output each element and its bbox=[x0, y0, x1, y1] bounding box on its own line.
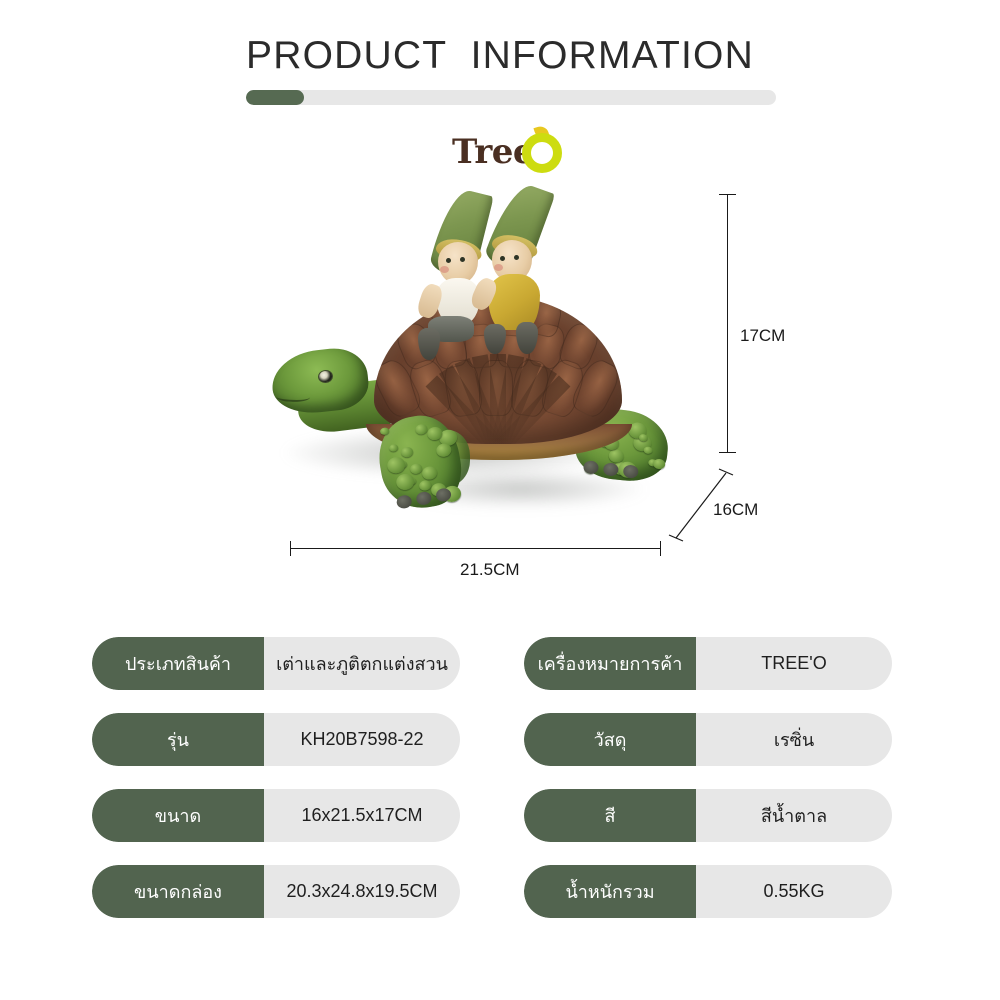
product-photo bbox=[270, 178, 690, 543]
brand-logo: Tree bbox=[452, 128, 572, 180]
leg-pebble bbox=[421, 465, 438, 480]
progress-bar-fill bbox=[246, 90, 304, 105]
spec-row-value: 16x21.5x17CM bbox=[264, 789, 460, 842]
leg-pebble bbox=[409, 463, 423, 475]
spec-row-value: 20.3x24.8x19.5CM bbox=[264, 865, 460, 918]
spec-row: สีสีน้ำตาล bbox=[524, 789, 892, 842]
spec-row-key: น้ำหนักรวม bbox=[524, 865, 696, 918]
spec-row-key: ขนาดกล่อง bbox=[92, 865, 264, 918]
gnome-eye bbox=[446, 258, 451, 263]
leg-pebble bbox=[389, 444, 399, 452]
gnome-eye bbox=[500, 256, 505, 261]
spec-row: ขนาดกล่อง20.3x24.8x19.5CM bbox=[92, 865, 460, 918]
spec-row: ประเภทสินค้าเต่าและภูติตกแต่งสวน bbox=[92, 637, 460, 690]
spec-row-value: TREE'O bbox=[696, 637, 892, 690]
height-dimension-label: 17CM bbox=[740, 326, 785, 346]
leg-pebble bbox=[415, 423, 429, 435]
leg-pebble bbox=[395, 472, 416, 491]
spec-row-value: 0.55KG bbox=[696, 865, 892, 918]
leg-pebble bbox=[400, 446, 414, 458]
width-dimension-label: 21.5CM bbox=[460, 560, 520, 580]
spec-row-key: ขนาด bbox=[92, 789, 264, 842]
spec-row-value: เรซิ่น bbox=[696, 713, 892, 766]
spec-row-key: รุ่น bbox=[92, 713, 264, 766]
spec-row-value: KH20B7598-22 bbox=[264, 713, 460, 766]
spec-column-right: เครื่องหมายการค้าTREE'Oวัสดุเรซิ่นสีสีน้… bbox=[524, 637, 892, 941]
spec-row: น้ำหนักรวม0.55KG bbox=[524, 865, 892, 918]
depth-dimension-label: 16CM bbox=[713, 500, 758, 520]
spec-row-key: สี bbox=[524, 789, 696, 842]
spec-row: วัสดุเรซิ่น bbox=[524, 713, 892, 766]
width-dimension-line bbox=[290, 548, 660, 549]
leg-pebble bbox=[380, 427, 390, 435]
height-dimension-line bbox=[727, 194, 728, 452]
spec-row: เครื่องหมายการค้าTREE'O bbox=[524, 637, 892, 690]
spec-row-key: วัสดุ bbox=[524, 713, 696, 766]
spec-row-value: เต่าและภูติตกแต่งสวน bbox=[264, 637, 460, 690]
gnome-eye bbox=[460, 257, 465, 262]
leg-pebble bbox=[418, 479, 432, 491]
page-title: PRODUCT INFORMATION bbox=[0, 34, 1000, 78]
leg-toe bbox=[415, 491, 432, 506]
width-dimension-cap-left bbox=[290, 541, 291, 556]
spec-row: ขนาด16x21.5x17CM bbox=[92, 789, 460, 842]
gnome-cheek bbox=[440, 266, 449, 273]
gnome-cheek bbox=[494, 264, 503, 271]
spec-row-key: ประเภทสินค้า bbox=[92, 637, 264, 690]
spec-column-left: ประเภทสินค้าเต่าและภูติตกแต่งสวนรุ่นKH20… bbox=[92, 637, 460, 941]
gnome-eye bbox=[514, 255, 519, 260]
leg-pebble bbox=[643, 446, 653, 454]
spec-row-key: เครื่องหมายการค้า bbox=[524, 637, 696, 690]
leg-toe bbox=[603, 462, 619, 476]
progress-bar-track bbox=[246, 90, 776, 105]
spec-row: รุ่นKH20B7598-22 bbox=[92, 713, 460, 766]
height-dimension-cap-bottom bbox=[719, 452, 736, 453]
product-information-page: PRODUCT INFORMATION Tree bbox=[0, 0, 1000, 1000]
leg-pebble bbox=[386, 456, 407, 475]
logo-ring-o-icon bbox=[522, 133, 562, 173]
height-dimension-cap-top bbox=[719, 194, 736, 195]
spec-row-value: สีน้ำตาล bbox=[696, 789, 892, 842]
leg-pebble bbox=[608, 449, 624, 463]
